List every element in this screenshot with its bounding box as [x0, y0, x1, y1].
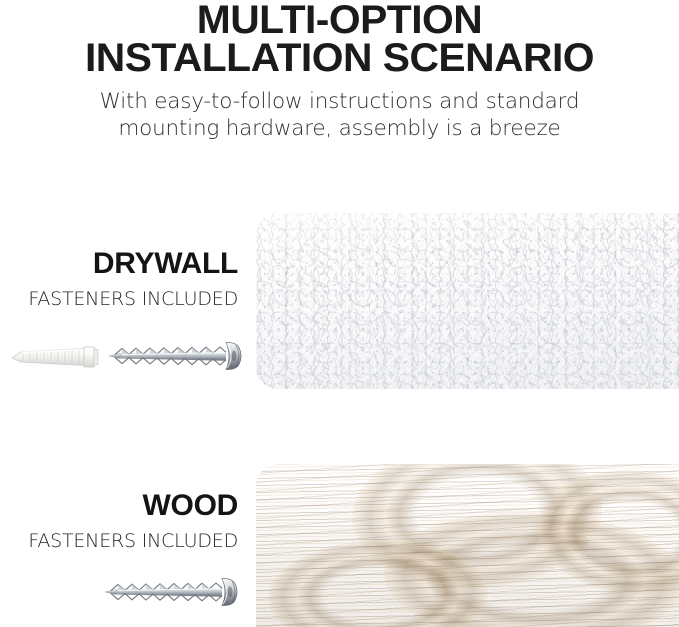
- wood-label-block: WOOD FASTENERS INCLUDED: [0, 490, 238, 552]
- title-line-1: MULTI-OPTION: [0, 0, 679, 40]
- wood-fasteners-note: FASTENERS INCLUDED: [0, 522, 238, 552]
- drywall-material-name: DRYWALL: [0, 248, 238, 280]
- washer-head-screw-icon: [109, 342, 241, 369]
- drywall-shading-overlay: [256, 213, 679, 389]
- wood-shading-overlay: [256, 464, 679, 627]
- installation-scenario-graphic: MULTI-OPTION INSTALLATION SCENARIO With …: [0, 0, 679, 627]
- washer-head-screw-icon: [105, 578, 237, 605]
- wood-hardware-group: [98, 572, 242, 612]
- drywall-fasteners-note: FASTENERS INCLUDED: [0, 280, 238, 310]
- subtitle-line-1: With easy-to-follow instructions and sta…: [0, 88, 679, 115]
- page-title: MULTI-OPTION INSTALLATION SCENARIO: [0, 0, 679, 77]
- plastic-wall-anchor-icon: [12, 347, 98, 367]
- wood-surface-swatch: [256, 464, 679, 627]
- title-line-2: INSTALLATION SCENARIO: [0, 40, 679, 78]
- header: MULTI-OPTION INSTALLATION SCENARIO With …: [0, 0, 679, 143]
- page-subtitle: With easy-to-follow instructions and sta…: [0, 77, 679, 143]
- drywall-label-block: DRYWALL FASTENERS INCLUDED: [0, 248, 238, 310]
- subtitle-line-2: mounting hardware, assembly is a breeze: [0, 115, 679, 142]
- drywall-surface-swatch: [256, 213, 679, 389]
- wood-material-name: WOOD: [0, 490, 238, 522]
- drywall-hardware-group: [8, 336, 242, 376]
